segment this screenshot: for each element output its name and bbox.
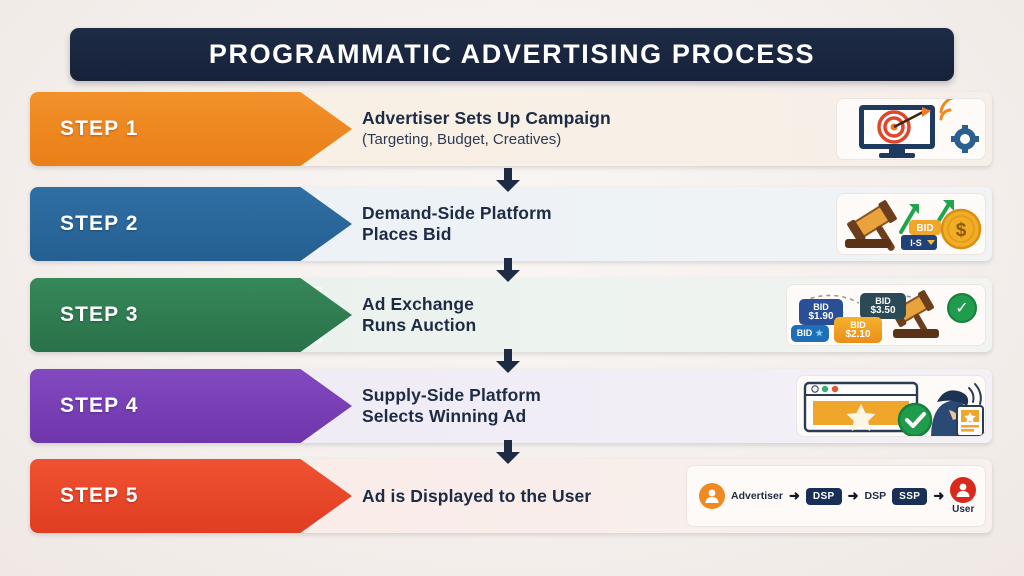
- step-1-subtitle: (Targeting, Budget, Creatives): [362, 130, 611, 150]
- step-row-4: STEP 4 SSP $ Supply-Side Platform: [30, 369, 992, 443]
- bid-bubble-2: BID $3.50: [860, 293, 906, 319]
- bid-bubble-small-label: BID: [797, 329, 813, 338]
- bid-bubble-small: BID ★: [791, 325, 829, 342]
- step-1-badge[interactable]: STEP 1: [30, 92, 352, 166]
- flow-dsp-text: DSP: [865, 490, 887, 502]
- browser-star-check-user-icon: [797, 425, 986, 437]
- green-check-icon: ✓: [947, 293, 977, 323]
- step-4-subtitle: Selects Winning Ad: [362, 406, 541, 427]
- step-3-text: Ad Exchange Runs Auction: [362, 278, 476, 352]
- step-5-label: STEP 5: [30, 484, 139, 508]
- bid-bubble-3-amount: $2.10: [845, 330, 870, 339]
- flow-ssp-chip: SSP: [892, 488, 927, 505]
- step-3-art-panel: BID $1.90 BID ★ BID $3.50 BID $2.10 ✓: [786, 284, 986, 346]
- step-4-badge[interactable]: STEP 4: [30, 369, 352, 443]
- step-2-label: STEP 2: [30, 212, 139, 236]
- step-2-title: Demand-Side Platform: [362, 203, 552, 224]
- monitor-target-gear-icon: [837, 148, 986, 160]
- flow-advertiser-label: Advertiser: [731, 490, 783, 502]
- step-row-5: STEP 5 AD Ad is Displayed: [30, 459, 992, 533]
- step-row-1: STEP 1 Advertiser Sets Up Campaign: [30, 92, 992, 166]
- step-1-text: Advertiser Sets Up Campaign (Targeting, …: [362, 92, 611, 166]
- step-3-label: STEP 3: [30, 303, 139, 327]
- page-title: PROGRAMMATIC ADVERTISING PROCESS: [209, 39, 815, 70]
- step-5-text: Ad is Displayed to the User: [362, 459, 591, 533]
- flow-arrow-icon-1: ➜: [789, 488, 800, 504]
- step-row-2: STEP 2 DSP $ Demand-Side Platform Places…: [30, 187, 992, 261]
- bid-bubbles-gavel-check-icon: BID $1.90 BID ★ BID $3.50 BID $2.10 ✓: [787, 285, 986, 346]
- step-4-label: STEP 4: [30, 394, 139, 418]
- step-1-title: Advertiser Sets Up Campaign: [362, 108, 611, 129]
- step-row-3: STEP 3 AD EXCHANGE $: [30, 278, 992, 352]
- step-4-text: Supply-Side Platform Selects Winning Ad: [362, 369, 541, 443]
- step-3-subtitle: Runs Auction: [362, 315, 476, 336]
- bid-bubble-1-amount: $1.90: [808, 312, 833, 321]
- bid-bubble-3: BID $2.10: [834, 317, 882, 343]
- down-arrow-icon-2: [494, 258, 522, 282]
- flow-arrow-icon-3: ➜: [933, 488, 944, 504]
- page-title-bar: PROGRAMMATIC ADVERTISING PROCESS: [70, 28, 954, 81]
- step-2-badge[interactable]: STEP 2: [30, 187, 352, 261]
- bid-bubble-2-amount: $3.50: [870, 306, 895, 315]
- step-5-art-panel: Advertiser ➜ DSP ➜ DSP SSP ➜ User: [686, 465, 986, 527]
- svg-text:$: $: [956, 220, 967, 241]
- step-2-subtitle: Places Bid: [362, 224, 552, 245]
- down-arrow-icon-4: [494, 440, 522, 464]
- step-5-badge[interactable]: STEP 5: [30, 459, 352, 533]
- step-1-label: STEP 1: [30, 117, 139, 141]
- step-3-title: Ad Exchange: [362, 294, 476, 315]
- step-5-title: Ad is Displayed to the User: [362, 486, 591, 507]
- advertiser-avatar-icon: [699, 483, 725, 509]
- gavel-bid-coin-icon: BID I-S $: [837, 194, 986, 255]
- down-arrow-icon-1: [494, 168, 522, 192]
- step-3-badge[interactable]: STEP 3: [30, 278, 352, 352]
- step-4-art-panel: [796, 375, 986, 437]
- infographic-canvas: PROGRAMMATIC ADVERTISING PROCESS STEP 1: [0, 0, 1024, 576]
- flow-user-group: User: [950, 477, 976, 515]
- step-1-art-panel: [836, 98, 986, 160]
- flow-dsp-chip: DSP: [806, 488, 842, 505]
- step-2-text: Demand-Side Platform Places Bid: [362, 187, 552, 261]
- svg-text:BID: BID: [916, 223, 933, 234]
- down-arrow-icon-3: [494, 349, 522, 373]
- user-avatar-icon: [950, 477, 976, 503]
- flow-user-label: User: [952, 504, 974, 515]
- step-4-title: Supply-Side Platform: [362, 385, 541, 406]
- svg-text:I-S: I-S: [910, 238, 922, 248]
- flow-arrow-icon-2: ➜: [848, 488, 859, 504]
- step-2-art-panel: BID I-S $: [836, 193, 986, 255]
